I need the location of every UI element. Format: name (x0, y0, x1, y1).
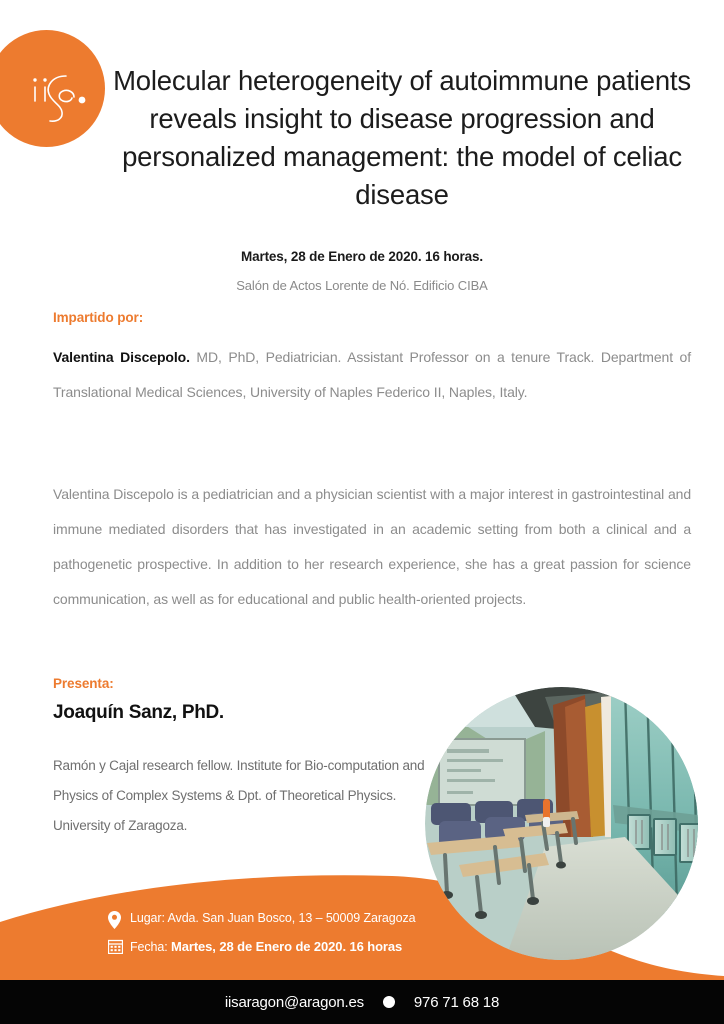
poster-title: Molecular heterogeneity of autoimmune pa… (104, 62, 700, 214)
speaker-details: Valentina Discepolo. MD, PhD, Pediatrici… (53, 340, 691, 410)
event-venue: Salón de Actos Lorente de Nó. Edificio C… (62, 278, 662, 293)
footer-date-text: Fecha: Martes, 28 de Enero de 2020. 16 h… (130, 938, 402, 956)
dot-separator-icon (383, 996, 395, 1008)
poster-root: Molecular heterogeneity of autoimmune pa… (0, 0, 724, 1024)
classroom-photo-illustration (425, 687, 698, 960)
footer-place-value: Avda. San Juan Bosco, 13 – 50009 Zaragoz… (165, 911, 416, 925)
footer-place-row: Lugar: Avda. San Juan Bosco, 13 – 50009 … (108, 910, 415, 934)
calendar-icon (108, 938, 130, 959)
classroom-photo (425, 687, 698, 960)
poster-header: Molecular heterogeneity of autoimmune pa… (0, 0, 724, 240)
host-name: Joaquín Sanz, PhD. (53, 702, 224, 724)
footer-date-value: Martes, 28 de Enero de 2020. 16 horas (171, 939, 402, 954)
footer-place-label: Lugar: (130, 911, 165, 925)
event-date: Martes, 28 de Enero de 2020. 16 horas. (62, 249, 662, 264)
speaker-bio: Valentina Discepolo is a pediatrician an… (53, 477, 691, 617)
host-section-label: Presenta: (53, 676, 114, 691)
footer-date-row: Fecha: Martes, 28 de Enero de 2020. 16 h… (108, 938, 415, 959)
footer-date-label: Fecha: (130, 940, 168, 954)
contact-email[interactable]: iisaragon@aragon.es (225, 994, 364, 1011)
map-pin-icon (108, 910, 130, 934)
host-affiliation: Ramón y Cajal research fellow. Institute… (53, 751, 428, 841)
contact-bar: iisaragon@aragon.es 976 71 68 18 (0, 980, 724, 1024)
iisaragon-logo (0, 30, 105, 147)
speaker-section-label: Impartido por: (53, 310, 143, 325)
footer-place-text: Lugar: Avda. San Juan Bosco, 13 – 50009 … (130, 910, 415, 927)
speaker-bio-paragraph: Valentina Discepolo is a pediatrician an… (53, 477, 691, 617)
speaker-name: Valentina Discepolo. (53, 349, 190, 365)
footer-details: Lugar: Avda. San Juan Bosco, 13 – 50009 … (108, 910, 415, 959)
iisaragon-face-logo (0, 30, 105, 147)
contact-phone[interactable]: 976 71 68 18 (414, 994, 499, 1011)
